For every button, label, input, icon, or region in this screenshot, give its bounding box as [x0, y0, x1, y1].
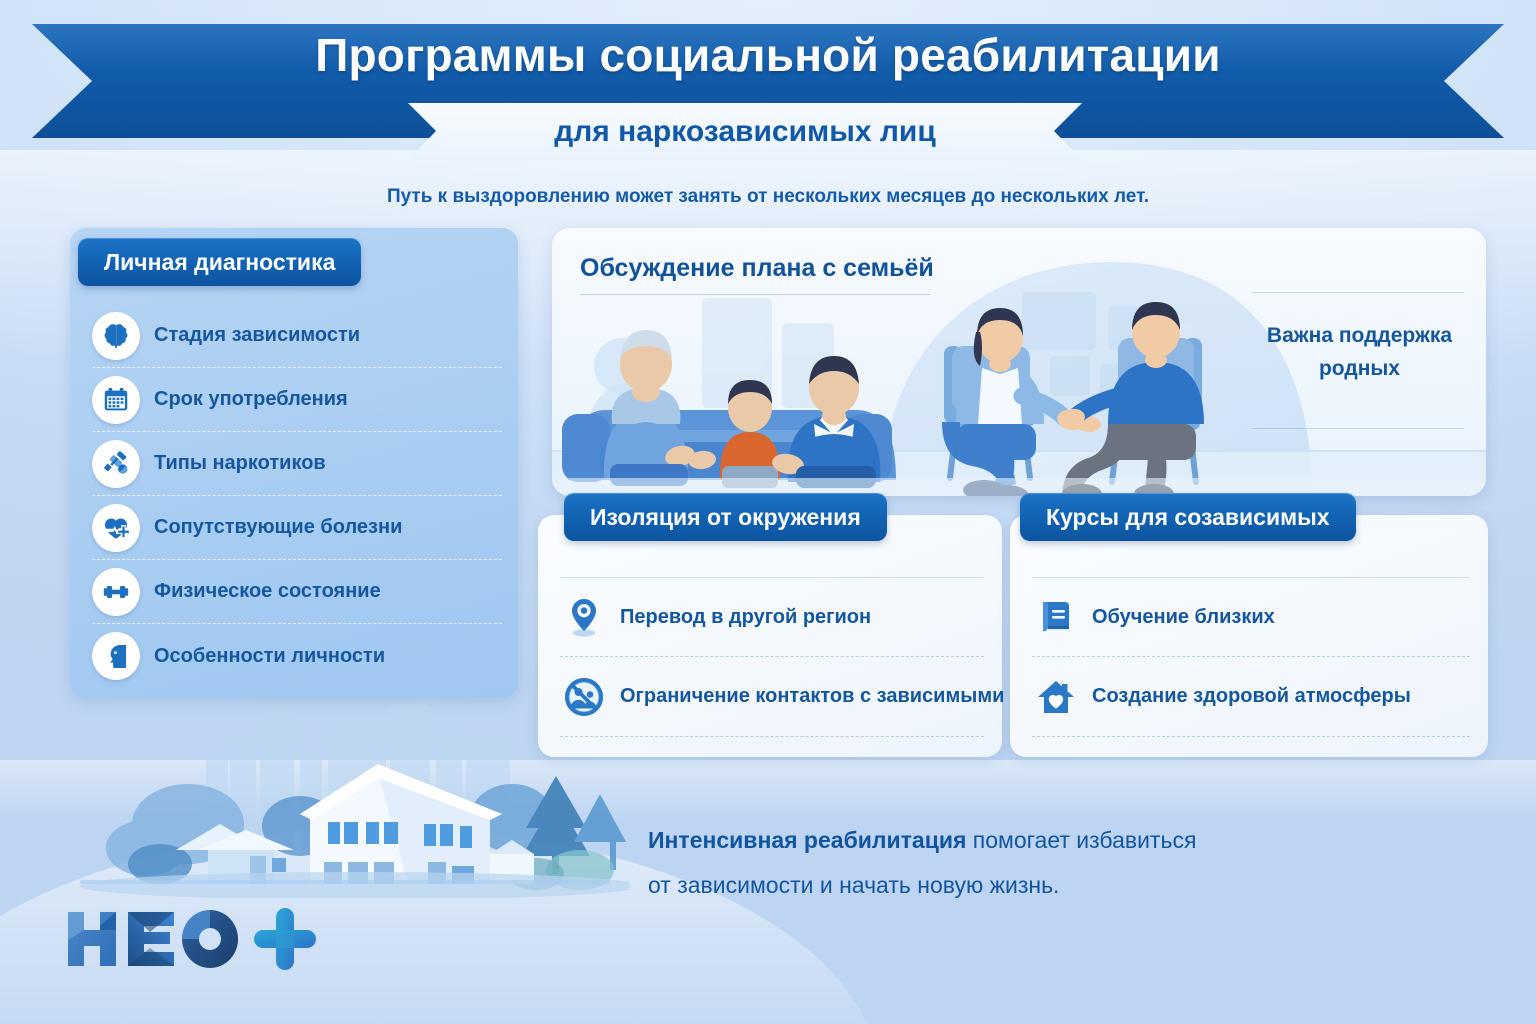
courses-card-badge: Курсы для созависимых [1020, 493, 1356, 541]
family-discussion-card: Обсуждение плана с семьёй Важна поддержк… [552, 228, 1486, 496]
list-item[interactable]: Обучение близких [1032, 577, 1470, 657]
page-subtitle: для наркозависимых лиц [408, 103, 1082, 160]
footer-strong: Интенсивная реабилитация [648, 827, 966, 853]
personal-diagnostics-panel: Личная диагностика Стадия зависимости [70, 228, 518, 698]
list-item-label: Особенности личности [154, 645, 385, 668]
hero-title: Обсуждение плана с семьёй [580, 254, 934, 283]
dumbbell-icon [92, 568, 140, 616]
list-item[interactable]: Типы наркотиков [92, 432, 502, 496]
sidebar-badge: Личная диагностика [78, 238, 361, 286]
house-and-city-skyline-illustration [60, 698, 630, 898]
page-title: Программы социальной реабилитации [0, 28, 1536, 82]
diagnostics-list: Стадия зависимости [92, 304, 502, 688]
codependents-courses-card: Курсы для созависимых Обучение близких [1010, 515, 1488, 757]
footer-line-1: Интенсивная реабилитация помогает избави… [648, 818, 1348, 863]
syringe-pills-icon [92, 440, 140, 488]
list-item-label: Перевод в другой регион [620, 606, 871, 629]
list-item-label: Сопутствующие болезни [154, 516, 402, 539]
list-item-label: Стадия зависимости [154, 324, 360, 347]
list-item[interactable]: Создание здоровой атмосферы [1032, 657, 1470, 737]
infographic-page: Программы социальной реабилитации для на… [0, 0, 1536, 1024]
footer-line-2: от зависимости и начать новую жизнь. [648, 863, 1348, 908]
book-icon [1032, 593, 1080, 641]
list-item[interactable]: Стадия зависимости [92, 304, 502, 368]
list-item-label: Срок употребления [154, 388, 348, 411]
list-item-label: Ограничение контактов с зависимыми [620, 685, 1004, 708]
hero-note: Важна поддержка родных [1252, 320, 1467, 385]
courses-list: Обучение близких Создание здоровой атмос… [1032, 577, 1470, 737]
map-pin-icon [560, 593, 608, 641]
hero-rule-top [1252, 292, 1464, 293]
header: Программы социальной реабилитации для на… [0, 0, 1536, 175]
head-profile-icon [92, 632, 140, 680]
list-item-label: Создание здоровой атмосферы [1092, 685, 1411, 708]
list-item-label: Типы наркотиков [154, 452, 326, 475]
brain-icon [92, 312, 140, 360]
list-item[interactable]: Перевод в другой регион [560, 577, 984, 657]
list-item[interactable]: Сопутствующие болезни [92, 496, 502, 560]
list-item[interactable]: Особенности личности [92, 624, 502, 688]
hero-rule-bottom [1252, 428, 1464, 429]
neo-plus-logo[interactable]: НЕО+ [62, 906, 322, 972]
list-item[interactable]: Физическое состояние [92, 560, 502, 624]
house-heart-icon [1032, 673, 1080, 721]
list-item-label: Физическое состояние [154, 580, 381, 603]
list-item-label: Обучение близких [1092, 606, 1275, 629]
lede-text: Путь к выздоровлению может занять от нес… [0, 186, 1536, 208]
isolation-card-badge: Изоляция от окружения [564, 493, 887, 541]
hero-title-rule [580, 294, 930, 295]
list-item[interactable]: Срок употребления [92, 368, 502, 432]
footer-rest: помогает избавиться [966, 827, 1196, 853]
heart-plus-icon [92, 504, 140, 552]
footer-statement: Интенсивная реабилитация помогает избави… [648, 818, 1348, 908]
calendar-icon [92, 376, 140, 424]
